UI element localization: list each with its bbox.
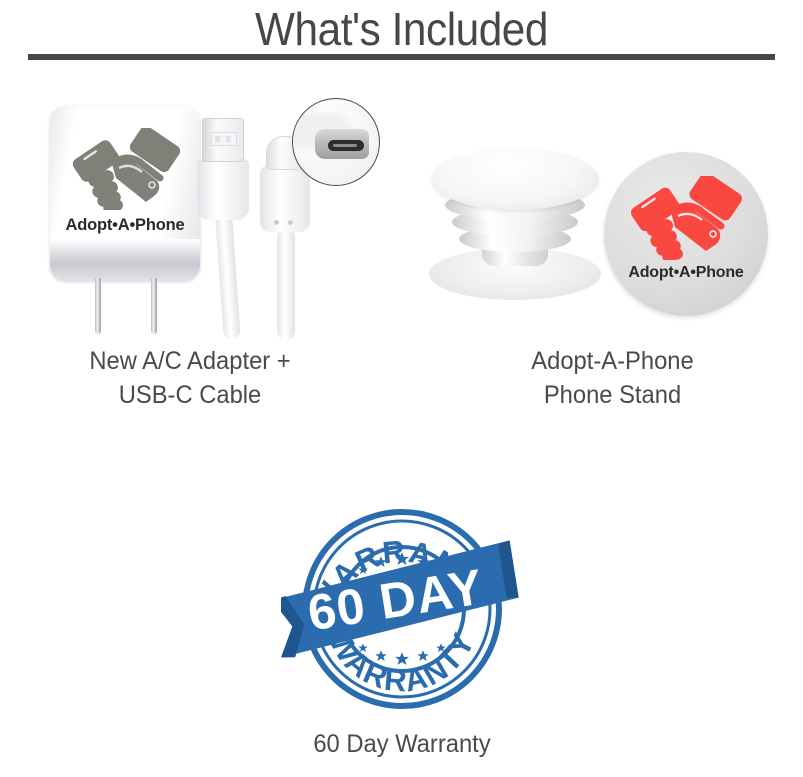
popsocket-top-disc [431,148,599,210]
title-divider [28,54,775,60]
usb-c-boot [260,166,310,232]
adapter-prong-right [151,278,157,334]
caption-ac-adapter: New A/C Adapter + USB-C Cable [29,344,352,412]
usb-c-cord [277,228,295,340]
handshake-phone-logo-icon [630,176,742,260]
usb-a-boot [197,158,249,220]
usb-c-zoom-inset-icon [292,98,380,186]
usb-a-cord [215,213,241,339]
popsocket-logo-disc-icon: Adopt•A•Phone [604,152,768,316]
popsocket-grip-icon [425,140,605,325]
warranty-stamp-icon: WARRANTY WARRANTY [281,498,523,720]
caption-phone-stand: Adopt-A-Phone Phone Stand [468,344,758,412]
disc-brand-text: Adopt•A•Phone [604,264,768,282]
adapter-brand-text: Adopt•A•Phone [50,216,200,235]
page-title: What's Included [32,2,771,56]
logo-disc: Adopt•A•Phone [604,152,768,316]
usb-a-connector [202,118,244,162]
adapter-body: Adopt•A•Phone [50,106,200,281]
usb-c-tip [315,129,369,159]
whats-included-page: What's Included [0,0,803,777]
usb-c-port-slot [328,140,364,151]
adapter-prong-left [95,278,101,334]
adapter-band [50,239,200,281]
usb-cable-icon [185,90,385,335]
handshake-phone-logo-icon [72,128,180,210]
caption-warranty: 60 Day Warranty [260,727,545,761]
